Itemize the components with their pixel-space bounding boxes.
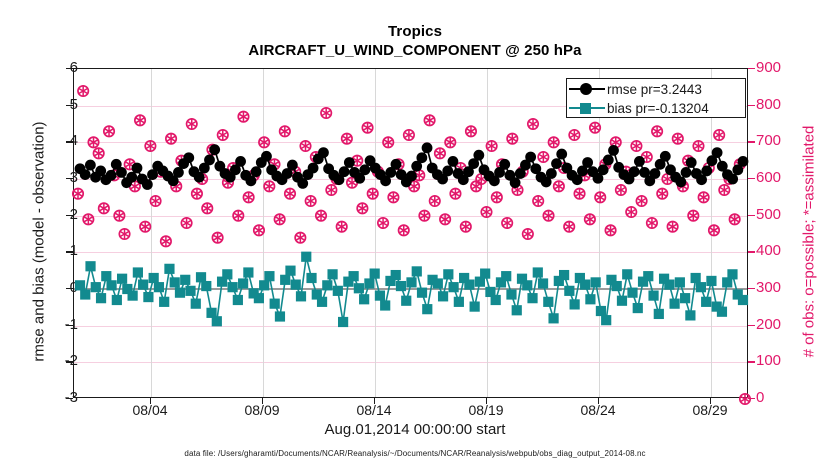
- rmse-marker: [235, 156, 246, 167]
- rmse-marker: [712, 147, 723, 158]
- rmse-marker: [650, 168, 661, 179]
- rmse-marker: [738, 156, 749, 167]
- y-tickmark-left: [66, 361, 73, 362]
- y-tick-right-900: 900: [756, 59, 800, 76]
- rmse-marker: [510, 177, 521, 188]
- rmse-marker: [448, 156, 459, 167]
- rmse-marker: [359, 164, 370, 175]
- rmse-marker: [603, 155, 614, 166]
- y-tickmark-left: [66, 288, 73, 289]
- rmse-marker: [106, 170, 117, 181]
- x-tick-08-09: 08/09: [244, 402, 279, 418]
- y-tick-right-400: 400: [756, 242, 800, 259]
- y-tick-right-600: 600: [756, 169, 800, 186]
- rmse-marker: [416, 152, 427, 163]
- rmse-marker: [499, 159, 510, 170]
- y-tick-right-0: 0: [756, 389, 800, 406]
- y-tickmark-right: [748, 251, 755, 252]
- y-tickmark-right: [748, 215, 755, 216]
- y-tickmark-right: [748, 105, 755, 106]
- chart-title-variable: AIRCRAFT_U_WIND_COMPONENT @ 250 hPa: [0, 41, 830, 61]
- y-tick-right-700: 700: [756, 132, 800, 149]
- y-tickmark-right: [748, 68, 755, 69]
- chart-legend[interactable]: rmse pr=3.2443 bias pr=-0.13204: [566, 78, 746, 118]
- x-tickmark: [262, 398, 263, 404]
- rmse-marker: [473, 150, 484, 161]
- rmse-marker: [126, 172, 137, 183]
- rmse-marker: [142, 179, 153, 190]
- y-tick-right-200: 200: [756, 316, 800, 333]
- x-tick-08-19: 08/19: [468, 402, 503, 418]
- rmse-marker: [183, 152, 194, 163]
- rmse-marker: [660, 151, 671, 162]
- y-tick-right-100: 100: [756, 352, 800, 369]
- y-tickmark-right: [748, 141, 755, 142]
- rmse-marker: [727, 174, 738, 185]
- x-tickmark: [486, 398, 487, 404]
- rmse-marker: [116, 167, 127, 178]
- rmse-marker: [598, 164, 609, 175]
- rmse-marker: [686, 157, 697, 168]
- rmse-marker: [194, 172, 205, 183]
- y-tickmark-left: [66, 105, 73, 106]
- rmse-marker: [525, 152, 536, 163]
- rmse-marker: [287, 160, 298, 171]
- rmse-marker: [246, 175, 257, 186]
- rmse-marker: [675, 177, 686, 188]
- chart-title-block: Tropics AIRCRAFT_U_WIND_COMPONENT @ 250 …: [0, 22, 830, 61]
- rmse-marker: [634, 156, 645, 167]
- x-tick-08-24: 08/24: [580, 402, 615, 418]
- x-tickmark: [710, 398, 711, 404]
- rmse-marker: [344, 157, 355, 168]
- rmse-marker: [551, 158, 562, 169]
- y-tick-right-300: 300: [756, 279, 800, 296]
- y-tickmark-right: [748, 178, 755, 179]
- rmse-marker: [132, 163, 143, 174]
- rmse-marker: [681, 167, 692, 178]
- x-axis-label: Aug.01,2014 00:00:00 start: [0, 421, 830, 438]
- rmse-series: [74, 69, 747, 397]
- x-tickmark: [374, 398, 375, 404]
- rmse-marker: [209, 144, 220, 155]
- data-file-caption: data file: /Users/gharamti/Documents/NCA…: [0, 449, 830, 458]
- y-tickmark-left: [66, 215, 73, 216]
- rmse-marker: [556, 149, 567, 160]
- chart-title-region: Tropics: [0, 22, 830, 41]
- y-tickmark-left: [66, 68, 73, 69]
- y-tickmark-left: [66, 398, 73, 399]
- rmse-marker: [546, 168, 557, 179]
- rmse-marker: [391, 159, 402, 170]
- legend-rmse-label: rmse pr=3.2443: [607, 82, 702, 97]
- legend-bias-marker: [567, 98, 607, 118]
- rmse-marker: [261, 151, 272, 162]
- y-tickmark-right: [748, 288, 755, 289]
- y-tickmark-left: [66, 325, 73, 326]
- x-tick-08-04: 08/04: [132, 402, 167, 418]
- y-axis-right-label: # of obs: o=possible; *=assimilated: [801, 87, 818, 397]
- rmse-marker: [339, 166, 350, 177]
- rmse-marker: [318, 147, 329, 158]
- y-tickmark-left: [66, 251, 73, 252]
- y-tickmark-left: [66, 178, 73, 179]
- y-tick-right-800: 800: [756, 96, 800, 113]
- rmse-marker: [85, 160, 96, 171]
- y-tick-right-500: 500: [756, 206, 800, 223]
- rmse-marker: [582, 157, 593, 168]
- matlab-figure: Tropics AIRCRAFT_U_WIND_COMPONENT @ 250 …: [0, 0, 830, 470]
- rmse-marker: [422, 142, 433, 153]
- x-tickmark: [150, 398, 151, 404]
- legend-bias-label: bias pr=-0.13204: [607, 101, 709, 116]
- y-tickmark-left: [66, 141, 73, 142]
- rmse-marker: [701, 166, 712, 177]
- x-tickmark: [598, 398, 599, 404]
- rmse-marker: [406, 171, 417, 182]
- rmse-marker: [251, 166, 262, 177]
- legend-rmse-marker: [567, 79, 607, 99]
- rmse-marker: [608, 145, 619, 156]
- legend-entry-rmse[interactable]: rmse pr=3.2443: [567, 79, 745, 99]
- y-tickmark-right: [748, 325, 755, 326]
- rmse-marker: [629, 166, 640, 177]
- x-tick-08-29: 08/29: [692, 402, 727, 418]
- y-tickmark-right: [748, 398, 755, 399]
- rmse-marker: [308, 163, 319, 174]
- rmse-marker: [442, 166, 453, 177]
- y-tickmark-right: [748, 361, 755, 362]
- rmse-marker: [80, 169, 91, 180]
- x-tick-08-14: 08/14: [356, 402, 391, 418]
- rmse-marker: [204, 155, 215, 166]
- legend-entry-bias[interactable]: bias pr=-0.13204: [567, 98, 745, 118]
